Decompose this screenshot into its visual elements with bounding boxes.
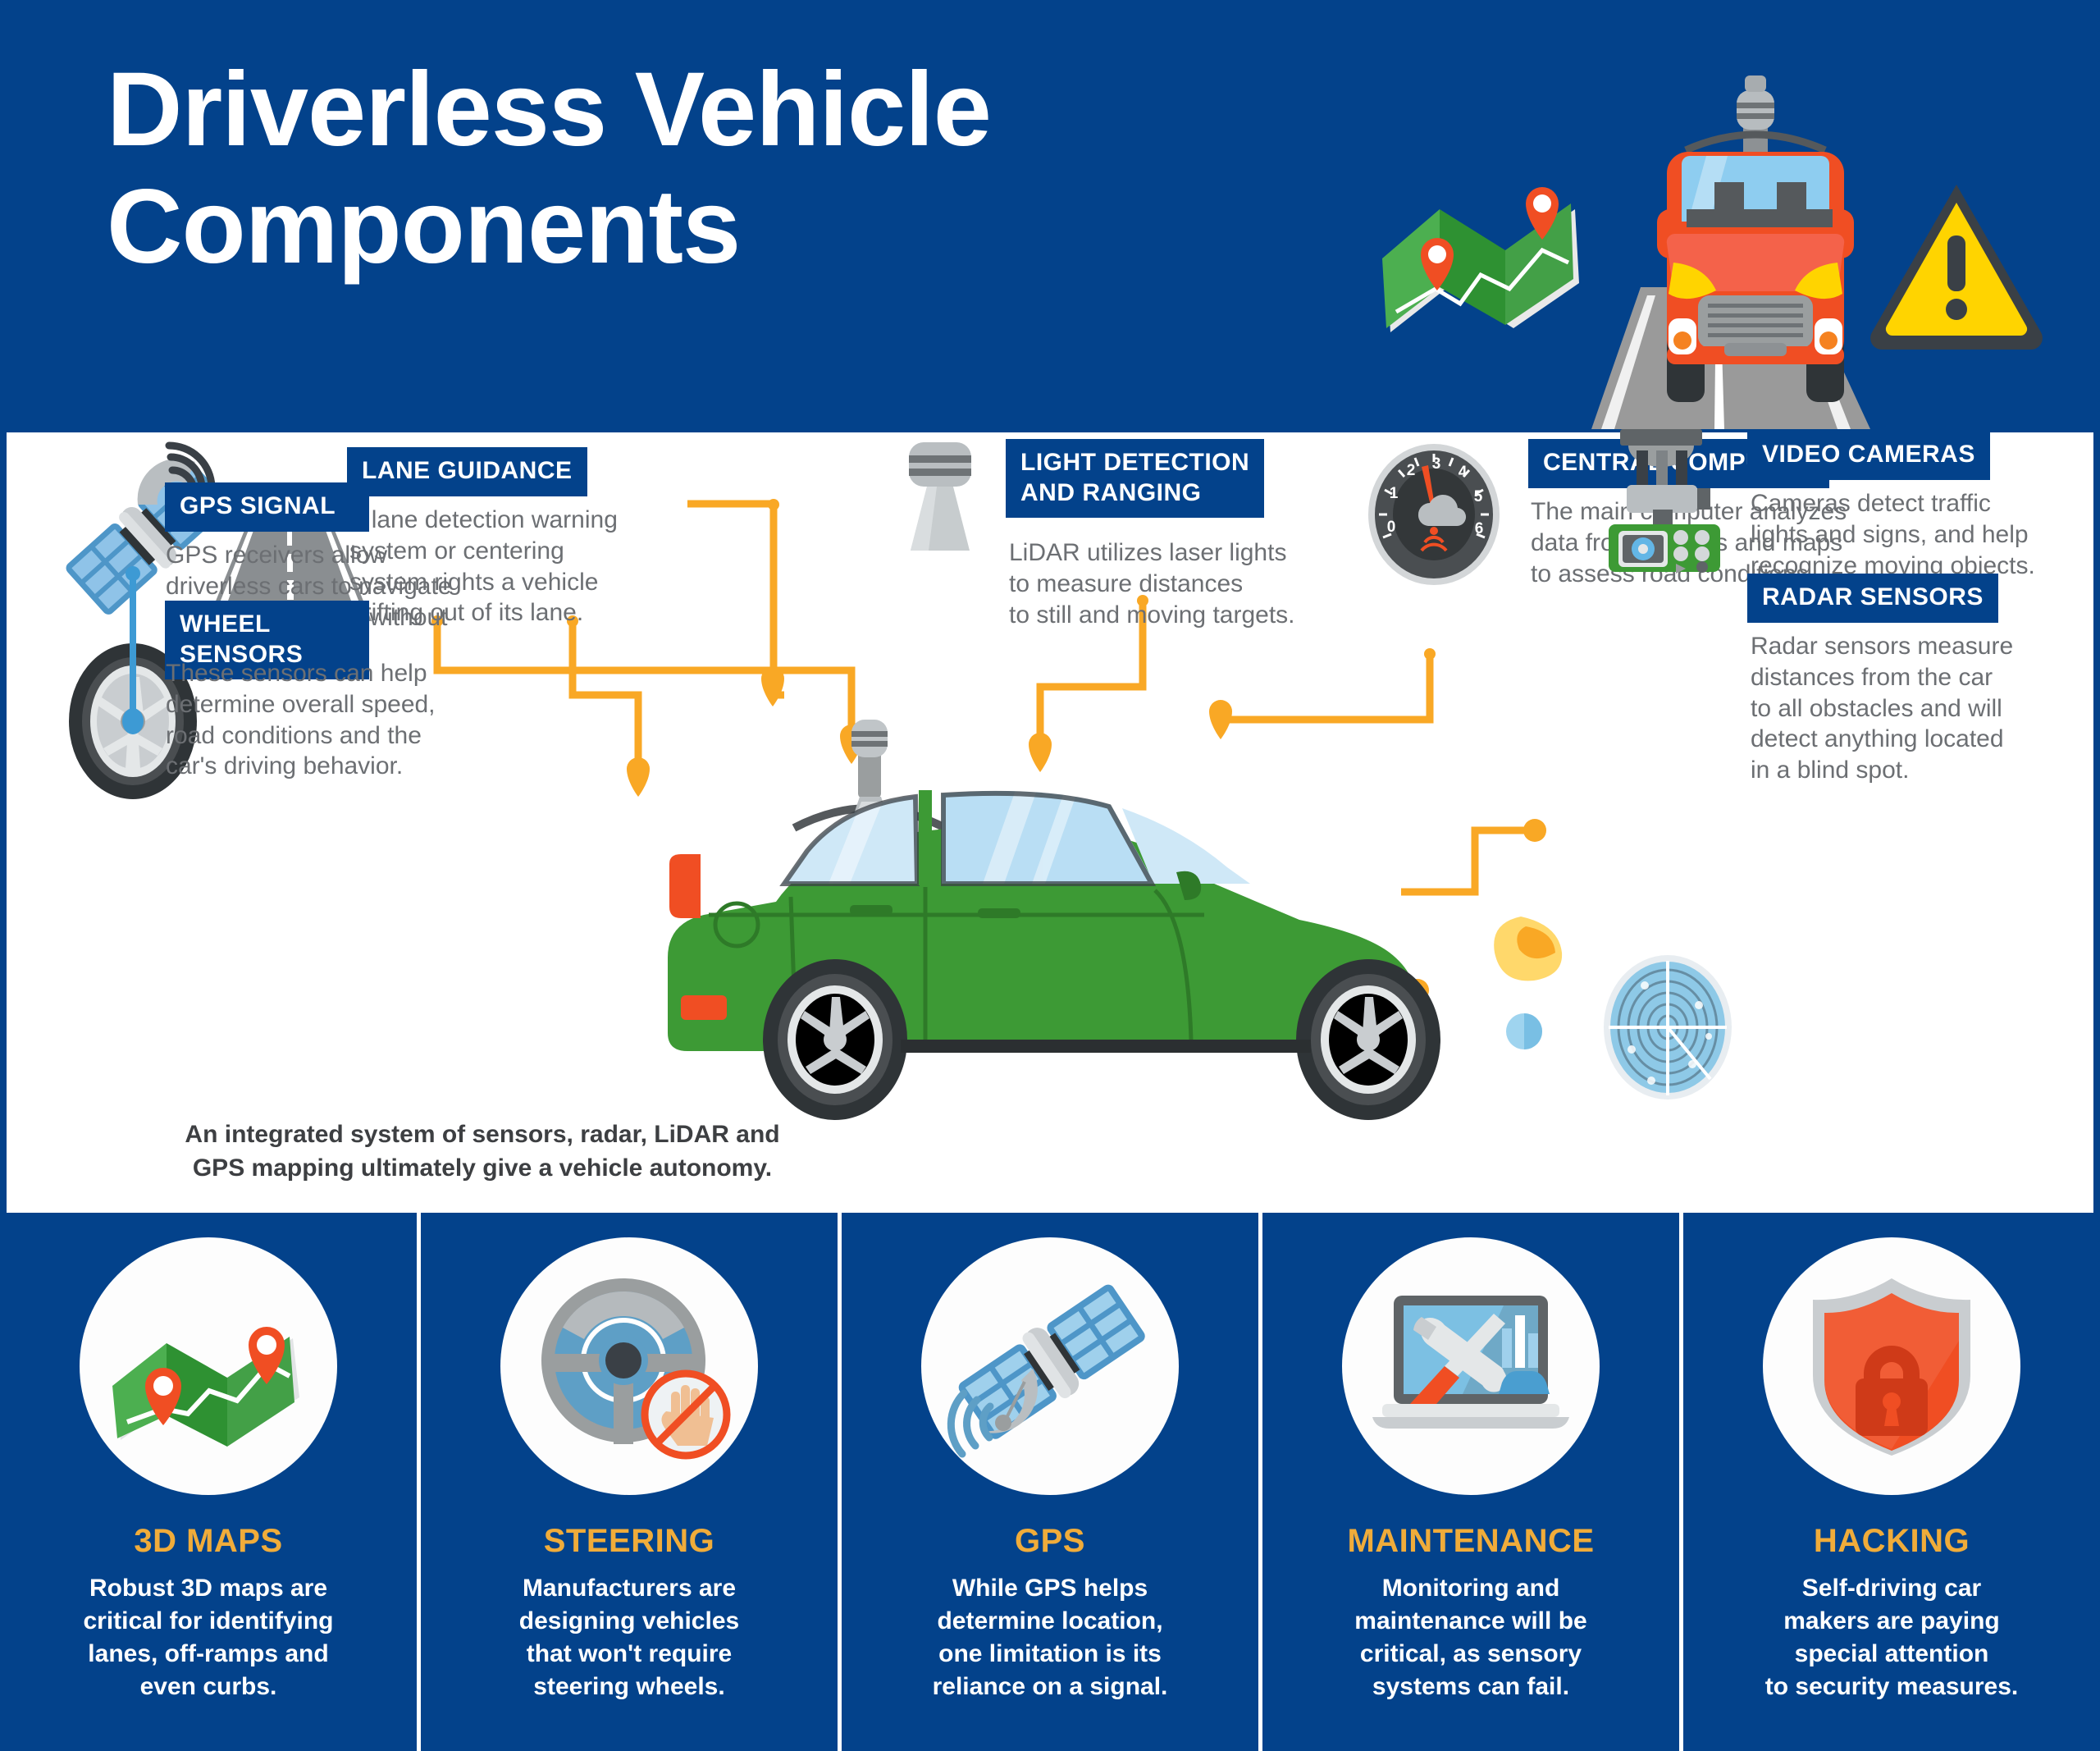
- page-title: Driverless Vehicle Components: [107, 51, 1337, 286]
- card-icon-circle: [1763, 1237, 2020, 1495]
- components-diagram-panel: LANE GUIDANCE A lane detection warning s…: [7, 432, 2093, 1213]
- gauge-dial-icon: 0 1 2 3 4 5 6: [1364, 441, 1504, 588]
- card-text-3d-maps: Robust 3D maps are critical for identify…: [0, 1572, 417, 1703]
- satellite-icon: [947, 1272, 1153, 1461]
- card-text-steering: Manufacturers are designing vehicles tha…: [421, 1572, 838, 1703]
- card-title-gps: GPS: [842, 1523, 1258, 1560]
- red-self-driving-car-front-icon: [1657, 75, 1854, 402]
- card-title-hacking: HACKING: [1683, 1523, 2100, 1560]
- card-maintenance[interactable]: MAINTENANCE Monitoring and maintenance w…: [1258, 1213, 1679, 1751]
- callout-label-radar-sensors: RADAR SENSORS: [1747, 574, 1998, 623]
- card-text-maintenance: Monitoring and maintenance will be criti…: [1262, 1572, 1679, 1703]
- front-wheel: [1296, 959, 1440, 1120]
- green-self-driving-car-side-icon: [630, 711, 1582, 1130]
- callout-text-lidar: LiDAR utilizes laser lights to measure d…: [1009, 537, 1354, 630]
- card-title-maintenance: MAINTENANCE: [1262, 1523, 1679, 1560]
- video-camera-icon: [1594, 427, 1733, 575]
- card-title-steering: STEERING: [421, 1523, 838, 1560]
- folded-map-icon: [1382, 187, 1579, 332]
- diagram-caption: An integrated system of sensors, radar, …: [171, 1118, 794, 1185]
- card-hacking[interactable]: HACKING Self-driving car makers are payi…: [1679, 1213, 2100, 1751]
- folded-map-icon: [106, 1284, 311, 1448]
- infographic-root: Driverless Vehicle Components: [0, 0, 2100, 1751]
- lidar-dome-icon: [891, 439, 989, 554]
- callout-text-wheel-sensors: These sensors can help determine overall…: [166, 658, 510, 782]
- card-icon-circle: [921, 1237, 1179, 1495]
- card-gps[interactable]: GPS While GPS helps determine location, …: [838, 1213, 1258, 1751]
- callout-label-lane-guidance: LANE GUIDANCE: [347, 447, 587, 496]
- svg-text:0: 0: [1387, 519, 1396, 536]
- callout-label-gps-signal: GPS SIGNAL: [165, 482, 369, 532]
- card-steering[interactable]: STEERING Manufacturers are designing veh…: [417, 1213, 838, 1751]
- warning-triangle-icon: [1870, 185, 2043, 350]
- header-banner: Driverless Vehicle Components: [0, 0, 2100, 429]
- card-icon-circle: [500, 1237, 758, 1495]
- callout-text-radar-sensors: Radar sensors measure distances from the…: [1751, 631, 2070, 786]
- page-title-line-2: Components: [107, 168, 1337, 286]
- laptop-tools-icon: [1364, 1284, 1577, 1448]
- steering-wheel-no-hands-icon: [527, 1272, 732, 1461]
- callout-label-lidar: LIGHT DETECTION AND RANGING: [1006, 439, 1264, 518]
- callout-text-video-cameras: Cameras detect traffic lights and signs,…: [1751, 488, 2079, 581]
- bottom-cards-row: 3D MAPS Robust 3D maps are critical for …: [0, 1213, 2100, 1751]
- card-icon-circle: [80, 1237, 337, 1495]
- page-title-line-1: Driverless Vehicle: [107, 51, 991, 168]
- card-icon-circle: [1342, 1237, 1600, 1495]
- no-hand-icon: [645, 1374, 727, 1456]
- card-title-3d-maps: 3D MAPS: [0, 1523, 417, 1560]
- shield-lock-icon: [1801, 1272, 1982, 1461]
- card-text-hacking: Self-driving car makers are paying speci…: [1683, 1572, 2100, 1703]
- hero-illustration: [1345, 41, 2084, 429]
- card-3d-maps[interactable]: 3D MAPS Robust 3D maps are critical for …: [0, 1213, 417, 1751]
- callout-label-video-cameras: VIDEO CAMERAS: [1747, 431, 1990, 480]
- svg-text:2: 2: [1407, 462, 1416, 479]
- rear-wheel: [763, 959, 907, 1120]
- radar-scope-icon: [1594, 949, 1742, 1105]
- card-text-gps: While GPS helps determine location, one …: [842, 1572, 1258, 1703]
